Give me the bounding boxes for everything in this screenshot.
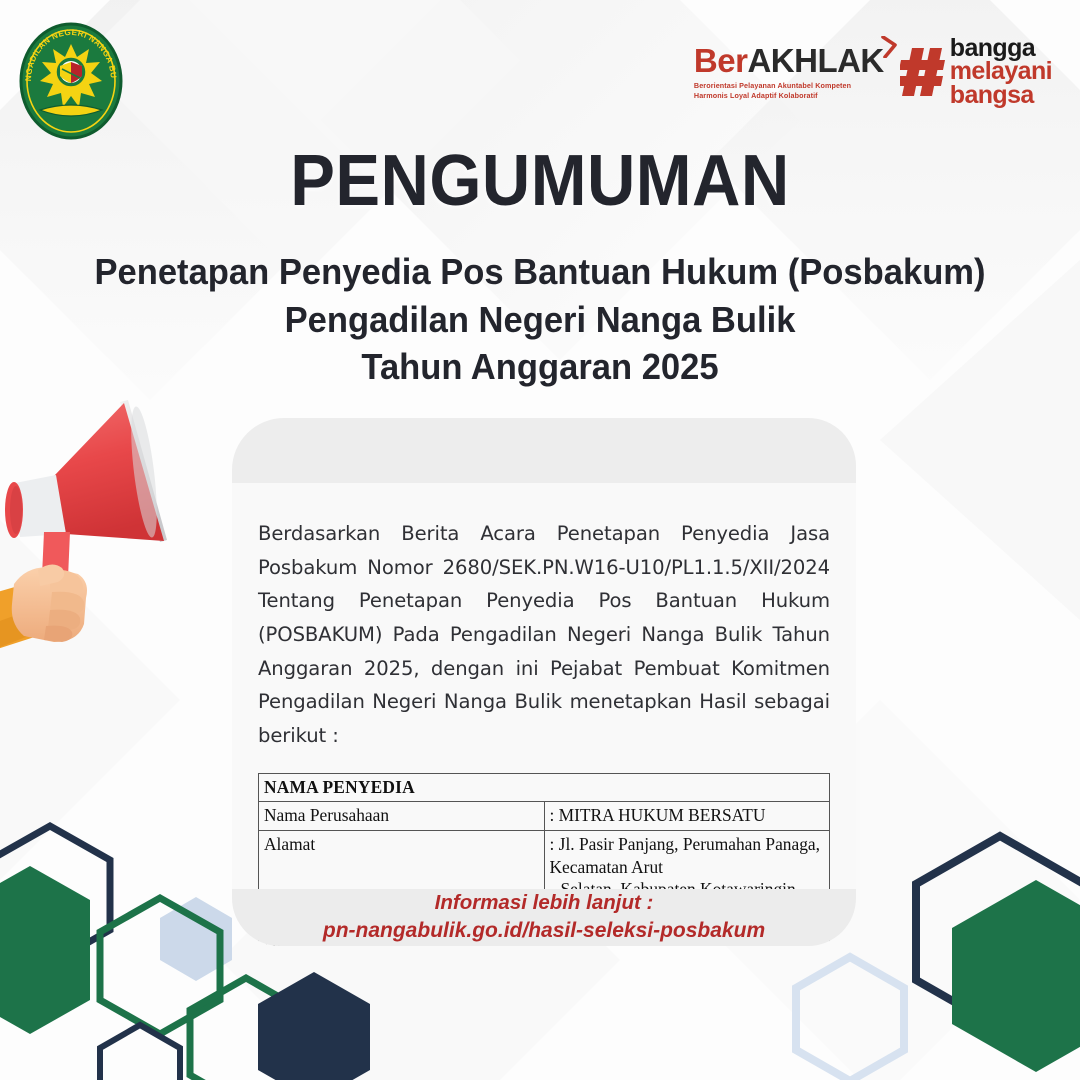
- megaphone-illustration: [0, 392, 207, 654]
- announcement-poster: PENGADILAN NEGERI NANGA BULIK BerAKHLAK …: [0, 0, 1080, 1080]
- card-top-band: [232, 418, 856, 483]
- subtitle-line-2: Pengadilan Negeri Nanga Bulik: [60, 296, 1020, 344]
- subtitle-line-3: Tahun Anggaran 2025: [60, 343, 1020, 391]
- subtitle-line-1: Penetapan Penyedia Pos Bantuan Hukum (Po…: [60, 248, 1020, 296]
- info-label: Informasi lebih lanjut :: [435, 889, 654, 917]
- berakhlak-tagline: Berorientasi Pelayanan Akuntabel Kompete…: [694, 81, 851, 100]
- table-row-header: NAMA PENYEDIA: [259, 773, 830, 802]
- card-body: Berdasarkan Berita Acara Penetapan Penye…: [232, 483, 856, 946]
- title-block: PENGUMUMAN Penetapan Penyedia Pos Bantua…: [0, 140, 1080, 391]
- berakhlak-wordmark: BerAKHLAK: [694, 44, 884, 77]
- berakhlak-prefix: Ber: [694, 42, 748, 79]
- row-label-nama-perusahaan: Nama Perusahaan: [259, 802, 545, 831]
- berakhlak-tagline-line2: Harmonis Loyal Adaptif Kolaboratif: [694, 91, 851, 101]
- alamat-line-1: : Jl. Pasir Panjang, Perumahan Panaga, K…: [550, 834, 820, 877]
- bangga-wordmark: bangga melayani bangsa: [950, 37, 1052, 108]
- page-title: PENGUMUMAN: [38, 140, 1042, 222]
- info-url[interactable]: pn-nangabulik.go.id/hasil-seleksi-posbak…: [323, 917, 765, 945]
- row-value-nama-perusahaan: : MITRA HUKUM BERSATU: [544, 802, 830, 831]
- table-row: Nama Perusahaan : MITRA HUKUM BERSATU: [259, 802, 830, 831]
- berakhlak-arrow-icon: [881, 36, 897, 58]
- berakhlak-main: AKHLAK: [747, 42, 883, 79]
- bangga-melayani-bangsa-logo: bangga melayani bangsa: [900, 37, 1052, 108]
- subtitle-block: Penetapan Penyedia Pos Bantuan Hukum (Po…: [60, 248, 1020, 391]
- berakhlak-tagline-line1: Berorientasi Pelayanan Akuntabel Kompete…: [694, 81, 851, 91]
- berakhlak-logo: BerAKHLAK Berorientasi Pelayanan Akuntab…: [694, 44, 884, 100]
- hash-icon: [900, 46, 946, 98]
- card-footer: Informasi lebih lanjut : pn-nangabulik.g…: [232, 889, 856, 946]
- announcement-paragraph: Berdasarkan Berita Acara Penetapan Penye…: [258, 517, 830, 753]
- bangga-line3: bangsa: [950, 84, 1052, 108]
- court-emblem: PENGADILAN NEGERI NANGA BULIK: [18, 22, 124, 140]
- table-header-nama-penyedia: NAMA PENYEDIA: [259, 773, 830, 802]
- content-card: Berdasarkan Berita Acara Penetapan Penye…: [232, 418, 856, 946]
- partner-logos: BerAKHLAK Berorientasi Pelayanan Akuntab…: [694, 36, 1052, 108]
